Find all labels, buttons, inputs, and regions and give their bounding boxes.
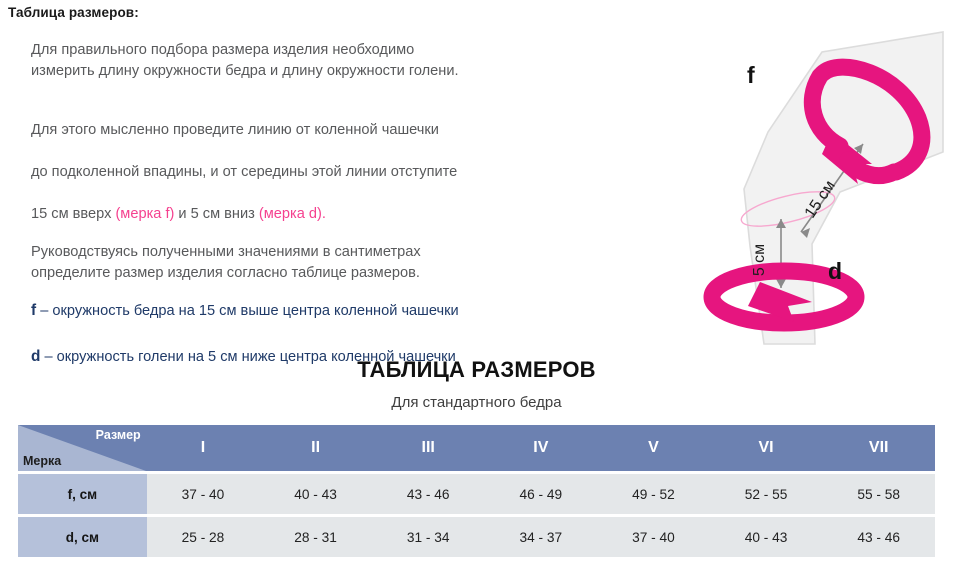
cell-f-6: 52 - 55 (710, 474, 823, 514)
leg-measurement-illustration: 15 см 5 см f d (672, 14, 953, 362)
cell-d-3: 31 - 34 (372, 517, 485, 557)
intro-paragraph-2: Для этого мысленно проведите линию от ко… (31, 99, 671, 225)
column-header-4: IV (485, 425, 598, 471)
page-title: Таблица размеров: (8, 5, 139, 20)
cell-f-3: 43 - 46 (372, 474, 485, 514)
measure-line-1: Для этого мысленно проведите линию от ко… (31, 122, 439, 138)
measure-line-3-b: и 5 см вниз (174, 206, 259, 222)
label-f: f (747, 62, 755, 89)
dimension-5cm-label: 5 см (751, 244, 768, 276)
definition-f-dash: – (36, 303, 52, 319)
column-header-5: V (597, 425, 710, 471)
cell-d-5: 37 - 40 (597, 517, 710, 557)
cell-d-4: 34 - 37 (485, 517, 598, 557)
column-header-1: I (147, 425, 260, 471)
intro-paragraph-1: Для правильного подбора размера изделия … (31, 40, 671, 82)
column-header-3: III (372, 425, 485, 471)
column-header-7: VII (822, 425, 935, 471)
measure-line-3-a: 15 см вверх (31, 206, 115, 222)
table-row: f, см 37 - 40 40 - 43 43 - 46 46 - 49 49… (18, 474, 935, 514)
cell-f-4: 46 - 49 (485, 474, 598, 514)
intro-paragraph-3: Руководствуясь полученными значениями в … (31, 242, 671, 284)
cell-d-7: 43 - 46 (822, 517, 935, 557)
cell-f-5: 49 - 52 (597, 474, 710, 514)
column-header-2: II (259, 425, 372, 471)
size-table-body: f, см 37 - 40 40 - 43 43 - 46 46 - 49 49… (18, 471, 935, 557)
measure-f-note: (мерка f) (115, 206, 174, 222)
definition-f: f – окружность бедра на 15 см выше центр… (31, 301, 671, 321)
table-title: ТАБЛИЦА РАЗМЕРОВ (0, 357, 953, 383)
definition-f-text: окружность бедра на 15 см выше центра ко… (52, 303, 458, 319)
row-label-d: d, см (18, 517, 147, 557)
table-row: d, см 25 - 28 28 - 31 31 - 34 34 - 37 37… (18, 517, 935, 557)
cell-d-2: 28 - 31 (259, 517, 372, 557)
size-table: Размер Мерка I II III IV V VI VII f, см … (18, 425, 935, 557)
measure-line-2: до подколенной впадины, и от середины эт… (31, 164, 457, 180)
corner-size-label: Размер (96, 428, 141, 442)
table-subtitle: Для стандартного бедра (0, 394, 953, 411)
cell-f-1: 37 - 40 (147, 474, 260, 514)
cell-f-7: 55 - 58 (822, 474, 935, 514)
label-d: d (828, 258, 842, 285)
column-header-6: VI (710, 425, 823, 471)
instructions-column: Для правильного подбора размера изделия … (31, 40, 671, 393)
row-label-f: f, см (18, 474, 147, 514)
size-chart-page: Таблица размеров: Для правильного подбор… (0, 0, 953, 570)
measure-d-note: (мерка d). (259, 206, 326, 222)
size-table-head: Размер Мерка I II III IV V VI VII (18, 425, 935, 471)
leg-diagram-svg: 15 см 5 см (672, 14, 953, 362)
cell-d-1: 25 - 28 (147, 517, 260, 557)
corner-measure-label: Мерка (23, 454, 61, 468)
table-corner-cell: Размер Мерка (18, 425, 147, 471)
cell-d-6: 40 - 43 (710, 517, 823, 557)
size-table-header-row: Размер Мерка I II III IV V VI VII (18, 425, 935, 471)
cell-f-2: 40 - 43 (259, 474, 372, 514)
